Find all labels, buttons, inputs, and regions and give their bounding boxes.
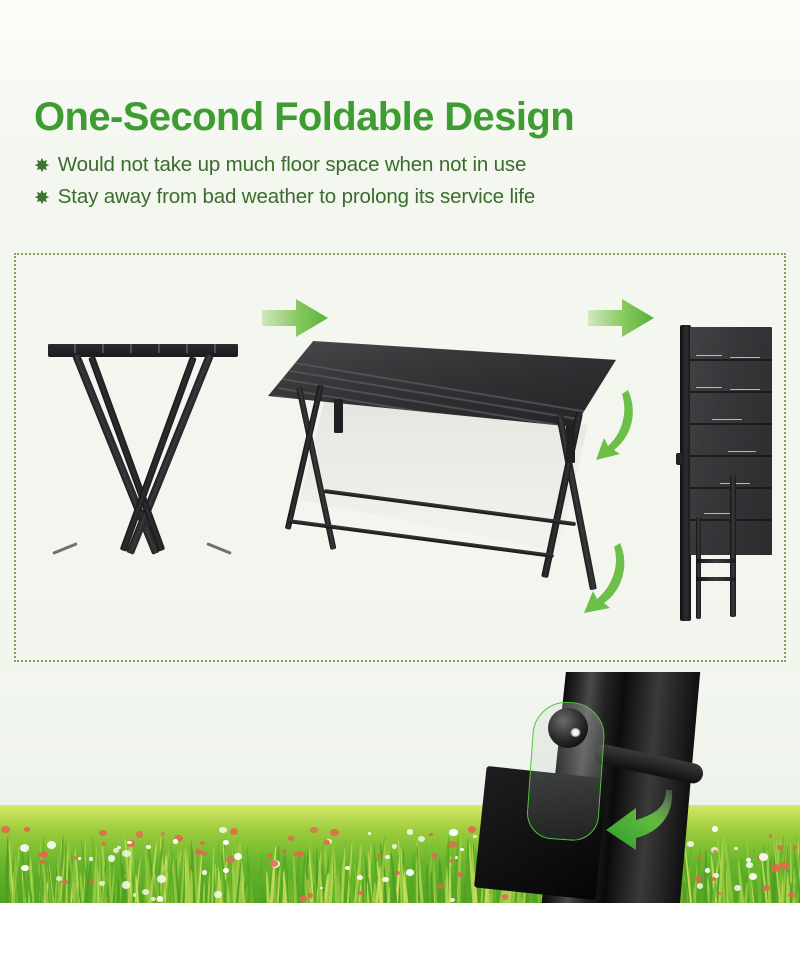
flower [299,896,307,903]
flower [40,860,44,864]
flower [385,855,390,859]
flower [142,889,149,895]
flower [310,827,318,834]
bottom-whitespace [0,903,800,977]
flower [189,869,192,872]
flower [122,850,130,857]
flower [234,853,242,860]
folded-brace-upper [696,559,736,563]
flower [307,893,314,899]
flower [267,853,272,857]
flower [133,893,137,896]
flower [99,881,105,886]
flower [330,829,338,836]
star-bullet-icon: ✸ [34,189,50,208]
flower [56,876,62,881]
flower [429,833,433,836]
foot-left [52,542,77,555]
foot-right [206,542,231,555]
flower [195,849,202,855]
flower [78,857,81,860]
flower [431,853,438,859]
folded-brace-lower [696,577,736,581]
flower [108,855,115,861]
product-feature-page: One-Second Foldable Design ✸ Would not t… [0,0,800,977]
table-side-view [34,333,252,593]
flower [320,887,323,890]
star-bullet-icon: ✸ [34,157,50,176]
flower [21,865,28,871]
flower [230,828,238,834]
flower [223,868,229,873]
flower [392,844,397,848]
flower [226,856,235,863]
flower [406,869,415,876]
flower [62,880,67,885]
flower [407,829,413,834]
hinge-knob [676,453,682,465]
flower [157,896,164,902]
folded-leg-outer [730,475,736,617]
flower [324,840,330,845]
flower [40,851,48,858]
flower [219,827,227,834]
flower [288,836,294,841]
table-folded-flat [674,325,778,625]
flower [201,851,207,856]
flower [345,866,350,870]
flower [99,830,107,836]
folding-sequence-diagram [14,253,786,662]
flower [378,854,382,858]
flower [223,840,229,845]
flower [47,841,56,849]
flower [368,832,372,835]
flower [122,881,130,888]
flower [418,836,425,842]
leg-front-right [126,354,214,555]
leg-front-left [72,354,160,555]
flower [357,875,363,880]
flower [1,826,10,833]
flower [146,845,151,849]
lever-knob [548,708,588,748]
flower [157,875,166,883]
list-item: ✸ Would not take up much floor space whe… [34,149,774,181]
flower [161,832,166,836]
flower [20,844,29,852]
flower [101,842,106,846]
hinge-right [566,425,575,463]
flower [395,871,400,875]
arrow-curved-fold-icon [570,541,630,617]
list-item: ✸ Stay away from bad weather to prolong … [34,181,774,213]
leg-back-right [120,356,197,552]
folded-leg-inner [696,517,701,619]
folding-latch-closeup [438,672,800,903]
page-title: One-Second Foldable Design [34,96,774,138]
feature-bullet-list: ✸ Would not take up much floor space whe… [34,149,774,213]
flower [151,897,156,902]
hinge-left [334,399,343,433]
flower [89,857,94,861]
flower [214,891,222,897]
flower [117,846,121,849]
flower [90,880,95,884]
flower [382,877,388,882]
latch-detail-photo [0,672,800,903]
arrow-right-icon [588,297,654,339]
flower [282,849,287,853]
lever-specular-highlight [570,728,581,737]
arrow-curved-fold-icon [582,386,638,464]
bullet-text: Stay away from bad weather to prolong it… [58,181,535,213]
flower [297,851,304,857]
flower [202,870,207,875]
arrow-left-release-icon [602,788,676,854]
flower [358,891,363,895]
bullet-text: Would not take up much floor space when … [58,149,526,181]
flower [200,841,205,845]
flower [136,831,144,838]
flower [24,827,30,832]
arrow-right-icon [262,297,328,339]
header-block: One-Second Foldable Design ✸ Would not t… [34,96,774,213]
flower [173,839,178,844]
